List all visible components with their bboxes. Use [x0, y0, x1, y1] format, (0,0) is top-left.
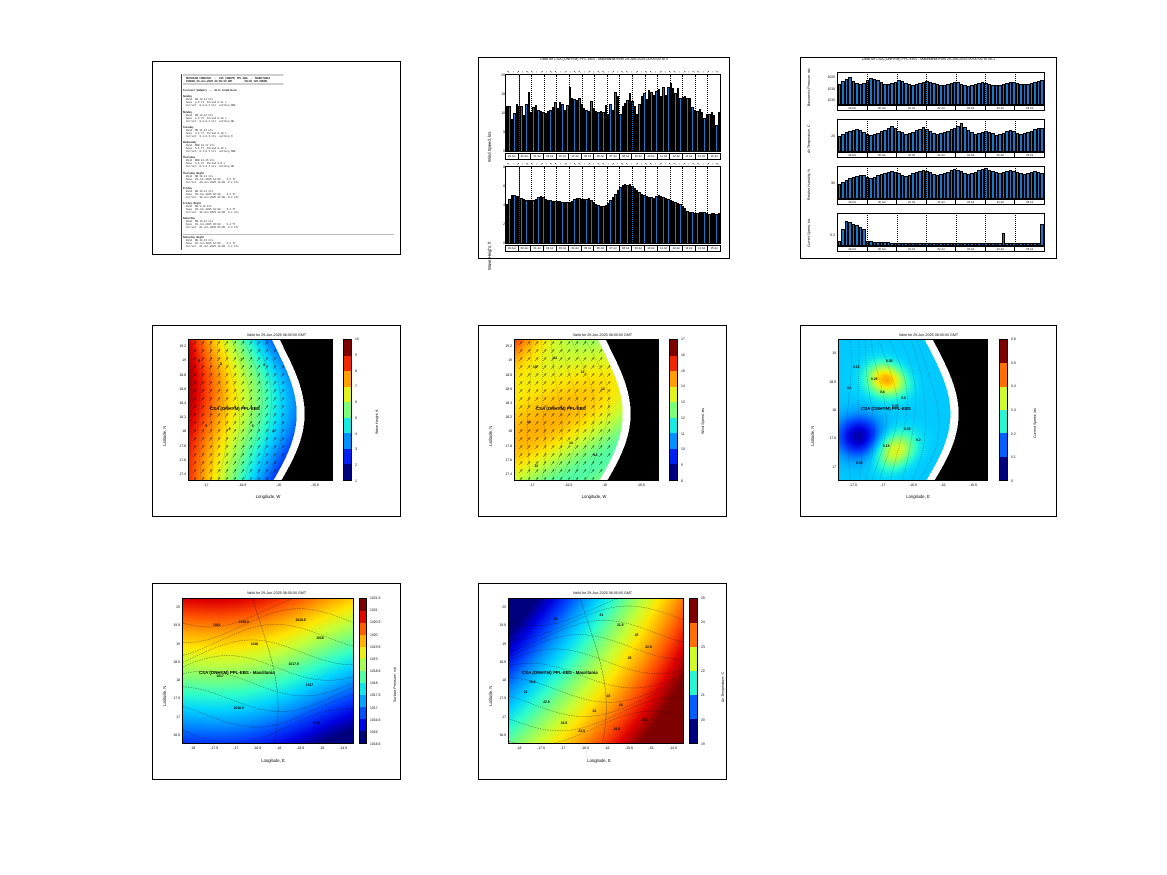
colorbar-tick: 3: [355, 447, 357, 451]
date-tick: 02 Jul: [544, 154, 557, 159]
day-gridline: [645, 75, 646, 151]
colorbar-segment: [360, 731, 366, 743]
contour-label: 1018.5: [239, 620, 249, 624]
bars-wind-speed: [506, 75, 720, 151]
day-gridline: [607, 167, 608, 243]
contour-label: 24: [593, 709, 597, 713]
contour-label: 21.5: [617, 623, 623, 627]
colorbar-segment: [670, 356, 677, 372]
day-gridline: [657, 167, 658, 243]
colorbar-tick: 1015.5: [370, 742, 380, 746]
day-gridline: [956, 166, 957, 199]
date-tick: 29 Jun: [506, 246, 519, 251]
contour-label: 0.4: [880, 390, 885, 394]
bar: [718, 112, 720, 151]
report-body: ========================================…: [183, 74, 394, 250]
y-tick: 17: [821, 465, 836, 469]
contour-label: 8: [198, 359, 200, 363]
site-label-wave-map: CSA (ONHYM) PPL-EBS: [210, 406, 260, 411]
date-tick: 01 Jul: [531, 154, 544, 159]
date-tick: 12 Jul: [670, 154, 683, 159]
day-gridline: [926, 166, 927, 199]
y-tick: 5: [491, 130, 505, 134]
colorbar-tick: 0: [1011, 479, 1013, 483]
date-tick: 02 Jul: [927, 153, 957, 157]
x-tick: -14.5: [334, 746, 352, 750]
date-tick: 29 Jun: [838, 247, 868, 251]
day-gridline: [645, 167, 646, 243]
colorbar-tick: 1019: [370, 657, 378, 661]
contour-label: 0.25: [871, 377, 877, 381]
date-tick: 05 Jul: [582, 154, 595, 159]
date-tick: 03 Jul: [956, 106, 986, 110]
colorbar-tick: 9: [355, 353, 357, 357]
y-tick-met-2: 50: [817, 181, 835, 185]
colorbar-tick: 1: [355, 479, 357, 483]
date-tick: 09 Jul: [632, 154, 645, 159]
colorbar-tick: 10: [681, 447, 685, 451]
colorbar-segment: [344, 402, 351, 418]
colorbar-label-current-speed: Current Speed, kts: [1033, 408, 1037, 438]
date-tick: 30 Jun: [519, 154, 532, 159]
contour-label: 1018.5: [296, 618, 306, 622]
contour-label: 23: [607, 694, 611, 698]
colorbar-wave-height: [343, 339, 352, 481]
colorbar-tick: 23: [701, 645, 705, 649]
y-axis-label-met-3: Current Speed, kts: [807, 219, 811, 247]
colorbar-segment: [360, 611, 366, 623]
chart-title-met: Data for CSA (ONHYM) PPL-EBS - Mauritani…: [801, 57, 1056, 61]
contour-label: 21: [524, 690, 528, 694]
date-tick: 04 Jul: [569, 154, 582, 159]
contour-label: 20.5: [529, 680, 535, 684]
date-strip-wind: 29 Jun30 Jun01 Jul02 Jul03 Jul04 Jul05 J…: [505, 153, 721, 160]
date-tick: 15 Jul: [708, 154, 720, 159]
y-tick: 18.6: [171, 387, 186, 391]
y-axis-label-met-0: Barometric Pressure, mb: [807, 69, 811, 107]
colorbar-tick: 1016: [370, 730, 378, 734]
contour-label: 22.5: [645, 645, 651, 649]
colorbar-segment: [344, 371, 351, 387]
y-tick-met-3: 0.2: [817, 233, 835, 237]
colorbar-tick: 25: [701, 596, 705, 600]
colorbar-segment: [1000, 457, 1007, 480]
y-tick: 17.5: [821, 436, 836, 440]
x-tick: -17.5: [844, 483, 862, 487]
colorbar-tick: 8: [355, 369, 357, 373]
day-gridline: [582, 167, 583, 243]
x-tick: -16.5: [904, 483, 922, 487]
y-tick: 18.5: [491, 660, 506, 664]
site-label-current-map: CSA (ONHYM) PPL-EBS: [861, 406, 911, 411]
y-tick: 17: [491, 715, 506, 719]
colorbar-segment: [360, 659, 366, 671]
colorbar-tick: 21: [701, 693, 705, 697]
contour-label: 0.2: [916, 438, 921, 442]
colorbar-tick: 11: [681, 432, 685, 436]
contour-label: 1018: [316, 636, 323, 640]
colorbar-segment: [360, 635, 366, 647]
x-tick: -15.5: [632, 483, 650, 487]
contour-label: 7: [240, 358, 242, 362]
contour-label: 22.5: [561, 721, 567, 725]
day-gridline: [682, 167, 683, 243]
colorbar-segment: [670, 402, 677, 418]
day-gridline: [867, 72, 868, 105]
bar: [1040, 173, 1043, 198]
y-tick: 2: [491, 222, 505, 226]
colorbar-segment: [1000, 410, 1007, 433]
date-tick: 14 Jul: [696, 246, 709, 251]
day-gridline: [607, 75, 608, 151]
colorbar-current-speed: [999, 339, 1008, 481]
date-tick: 04 Jul: [986, 106, 1016, 110]
day-gridline: [985, 213, 986, 246]
y-tick: 18.4: [497, 401, 512, 405]
y-axis-label-wave-map: Latitude, N: [162, 426, 167, 446]
day-gridline: [926, 213, 927, 246]
y-tick: 18: [171, 429, 186, 433]
y-tick: 8: [491, 165, 505, 169]
x-tick: -15.5: [964, 483, 982, 487]
day-gridline: [594, 75, 595, 151]
y-tick: 18.5: [165, 660, 180, 664]
bar: [1040, 80, 1043, 104]
x-tick: -17: [227, 746, 245, 750]
x-tick: -16.5: [248, 746, 266, 750]
contour-label: 0.3: [901, 396, 906, 400]
y-tick-met-0: 1015: [817, 87, 835, 91]
colorbar-tick: 5: [355, 416, 357, 420]
x-axis-label-wave-map: Longitude, W: [183, 494, 353, 499]
y-tick: 19.5: [165, 623, 180, 627]
date-tick: 13 Jul: [683, 154, 696, 159]
date-strip-met-0: 29 Jun30 Jun01 Jul02 Jul03 Jul04 Jul05 J…: [837, 105, 1045, 111]
x-tick: -15.5: [306, 483, 324, 487]
y-tick-met-0: 1020: [817, 75, 835, 79]
y-tick: 10: [491, 111, 505, 115]
colorbar-tick: 24: [701, 620, 705, 624]
contour-label: 5: [205, 424, 207, 428]
day-gridline: [531, 75, 532, 151]
day-gridline: [619, 75, 620, 151]
day-gridline: [985, 119, 986, 152]
y-tick: 17.4: [171, 472, 186, 476]
colorbar-segment: [360, 707, 366, 719]
y-tick: 18.4: [171, 401, 186, 405]
date-tick: 04 Jul: [986, 247, 1016, 251]
day-gridline: [670, 167, 671, 243]
colorbar-tick: 1016.5: [370, 718, 380, 722]
date-tick: 30 Jun: [519, 246, 532, 251]
colorbar-tick: 0.1: [1011, 455, 1016, 459]
day-gridline: [926, 119, 927, 152]
colorbar-segment: [360, 683, 366, 695]
x-tick: -17.5: [532, 746, 550, 750]
contour-label: 14: [569, 441, 573, 445]
contour-label: 22.5: [543, 700, 549, 704]
x-tick: -16: [598, 746, 616, 750]
colorbar-tick: 1019.5: [370, 645, 380, 649]
x-tick: -17: [523, 483, 541, 487]
y-tick: 20: [165, 605, 180, 609]
contour-label: 13: [601, 387, 605, 391]
date-strip-met-1: 29 Jun30 Jun01 Jul02 Jul03 Jul04 Jul05 J…: [837, 152, 1045, 158]
bar: [1040, 224, 1043, 245]
day-gridline: [897, 119, 898, 152]
day-gridline: [867, 119, 868, 152]
contour-label: 13: [534, 464, 538, 468]
day-gridline: [956, 213, 957, 246]
y-tick: 17.8: [497, 444, 512, 448]
day-gridline: [867, 166, 868, 199]
x-tick: -17: [554, 746, 572, 750]
colorbar-tick: 20: [701, 718, 705, 722]
report-left-rule: [181, 74, 182, 250]
x-tick: -17.5: [205, 746, 223, 750]
bars-met-2: [838, 167, 1044, 198]
date-tick: 13 Jul: [683, 246, 696, 251]
colorbar-segment: [360, 671, 366, 683]
colorbar-label-pressure: Surface Pressure, mb: [393, 667, 397, 702]
contour-label: 22: [635, 633, 639, 637]
x-tick: -16.5: [233, 483, 251, 487]
date-tick: 29 Jun: [838, 200, 868, 204]
y-tick: 18.2: [497, 415, 512, 419]
colorbar-segment: [690, 695, 697, 719]
panel-wind-speed-map: Valid for 29-Jun-2025 06:00:00 GMT Latit…: [478, 325, 727, 517]
y-tick: 16.5: [165, 733, 180, 737]
colorbar-segment: [670, 449, 677, 465]
colorbar-tick: 1018.5: [370, 669, 380, 673]
y-tick: 17.6: [171, 458, 186, 462]
panel-surface-pressure-map: Valid for 29-Jun-2025 06:00:00 GMT Latit…: [152, 583, 401, 780]
y-tick: 18.8: [171, 373, 186, 377]
map-title-current-speed: Valid for 29-Jun-2025 06:00:00 GMT: [801, 333, 1056, 337]
y-tick: 0: [491, 241, 505, 245]
y-axis-label-wind-speed: Wind Speed, kts: [487, 132, 492, 163]
day-gridline: [897, 166, 898, 199]
day-gridline: [582, 75, 583, 151]
y-tick: 19.2: [497, 344, 512, 348]
colorbar-tick: 16: [681, 353, 685, 357]
contour-label: 23.5: [642, 718, 648, 722]
y-tick: 17.5: [491, 696, 506, 700]
panel-current-speed-map: Valid for 29-Jun-2025 06:00:00 GMT Latit…: [800, 325, 1057, 517]
colorbar-segment: [690, 719, 697, 743]
day-gridline: [632, 75, 633, 151]
contour-label: 14: [527, 420, 531, 424]
contour-label: 14: [594, 453, 598, 457]
date-tick: 06 Jul: [594, 154, 607, 159]
day-gridline: [695, 75, 696, 151]
colorbar-tick: 1020: [370, 633, 378, 637]
y-tick: 17: [165, 715, 180, 719]
y-tick: 20: [491, 605, 506, 609]
bars-met-0: [838, 73, 1044, 104]
x-tick: -17: [874, 483, 892, 487]
day-gridline: [867, 213, 868, 246]
contour-label: 21: [600, 613, 604, 617]
contour-label: 0.15: [853, 365, 859, 369]
day-gridline: [695, 167, 696, 243]
date-tick: 14 Jul: [696, 154, 709, 159]
site-label-pressure-map: CSA (ONHYM) PPL-EBS - Mauritania: [199, 670, 275, 675]
colorbar-tick: 0.4: [1011, 384, 1016, 388]
day-gridline: [670, 75, 671, 151]
y-tick: 17.4: [497, 472, 512, 476]
panel-wind-wave-timeseries: Data for CSA (ONHYM) PPL-EBS - Mauritani…: [478, 57, 730, 259]
colorbar-segment: [1000, 363, 1007, 386]
day-gridline: [926, 72, 927, 105]
colorbar-tick: 19: [701, 742, 705, 746]
colorbar-segment: [344, 464, 351, 480]
x-tick: -14.5: [664, 746, 682, 750]
day-gridline: [1015, 72, 1016, 105]
day-gridline: [682, 75, 683, 151]
date-tick: 06 Jul: [594, 246, 607, 251]
y-tick: 18.8: [497, 373, 512, 377]
y-tick: 4: [491, 203, 505, 207]
y-tick: 18: [491, 678, 506, 682]
panel-air-temperature-map: Valid for 29-Jun-2025 06:00:00 GMT Latit…: [478, 583, 727, 780]
colorbar-segment: [670, 371, 677, 387]
site-label-temp-map: CSA (ONHYM) PPL-EBS - Mauritania: [522, 670, 598, 675]
y-tick: 19: [497, 358, 512, 362]
day-gridline: [519, 75, 520, 151]
date-tick: 03 Jul: [956, 153, 986, 157]
colorbar-tick: 6: [355, 400, 357, 404]
day-gridline: [569, 75, 570, 151]
colorbar-segment: [670, 433, 677, 449]
contour-label: 4: [272, 429, 274, 433]
panel-wave-height-map: Valid for 29-Jun-2025 06:00:00 GMT Latit…: [152, 325, 401, 517]
contour-label: 24: [619, 703, 623, 707]
contour-label: 0.25: [904, 427, 910, 431]
colorbar-segment: [670, 418, 677, 434]
y-tick-met-1: 20: [817, 134, 835, 138]
map-title-pressure: Valid for 29-Jun-2025 06:00:00 GMT: [153, 591, 400, 595]
date-tick: 02 Jul: [927, 247, 957, 251]
colorbar-segment: [360, 599, 366, 611]
y-tick: 18.2: [171, 415, 186, 419]
contour-label: 1017: [216, 674, 223, 678]
contour-label: 8: [220, 362, 222, 366]
contour-label: 20: [554, 617, 558, 621]
y-tick: 19: [171, 358, 186, 362]
contour-label: 14: [553, 356, 557, 360]
x-tick: -15: [642, 746, 660, 750]
colorbar-segment: [360, 695, 366, 707]
date-tick: 30 Jun: [868, 247, 898, 251]
date-tick: 04 Jul: [986, 153, 1016, 157]
colorbar-segment: [1000, 433, 1007, 456]
x-tick: -15.5: [291, 746, 309, 750]
y-tick-met-0: 1010: [817, 98, 835, 102]
y-tick: 16.5: [491, 733, 506, 737]
y-tick: 19: [491, 642, 506, 646]
contour-label: 1017.5: [289, 662, 299, 666]
colorbar-tick: 12: [681, 416, 685, 420]
colorbar-tick: 1021: [370, 608, 378, 612]
contour-label: 5: [252, 424, 254, 428]
date-tick: 01 Jul: [897, 106, 927, 110]
x-tick: -18: [184, 746, 202, 750]
contour-label: 12: [581, 370, 585, 374]
y-tick: 6: [491, 184, 505, 188]
x-axis-label-wind-map: Longitude, W: [509, 494, 679, 499]
colorbar-segment: [344, 449, 351, 465]
x-tick: -16.5: [559, 483, 577, 487]
y-tick: 18.5: [821, 380, 836, 384]
map-title-air-temperature: Valid for 29-Jun-2025 06:00:00 GMT: [479, 591, 726, 595]
y-axis-label-wave-height: Wave Height, ft: [487, 242, 492, 270]
date-tick: 29 Jun: [838, 106, 868, 110]
report-spacer: [183, 229, 394, 232]
contour-label: 0.15: [883, 444, 889, 448]
report-divider: [183, 234, 394, 235]
x-tick: -16: [596, 483, 614, 487]
date-tick: 07 Jul: [607, 246, 620, 251]
date-tick: 09 Jul: [632, 246, 645, 251]
contour-label: 1019: [213, 623, 220, 627]
y-tick: 19.5: [491, 623, 506, 627]
date-tick: 11 Jul: [658, 154, 671, 159]
date-tick: 11 Jul: [658, 246, 671, 251]
date-tick: 30 Jun: [868, 200, 898, 204]
date-strip-wave: 29 Jun30 Jun01 Jul02 Jul03 Jul04 Jul05 J…: [505, 245, 721, 252]
report-spacer: [183, 248, 394, 250]
date-tick: 01 Jul: [897, 200, 927, 204]
colorbar-tick: 1021.5: [370, 596, 380, 600]
x-axis-label-current-map: Longitude, E: [833, 494, 1003, 499]
date-tick: 01 Jul: [531, 246, 544, 251]
day-gridline: [594, 167, 595, 243]
colorbar-tick: 4: [355, 432, 357, 436]
day-gridline: [956, 72, 957, 105]
x-tick: -15: [313, 746, 331, 750]
y-axis-label-current-map: Latitude, N: [810, 426, 815, 446]
contour-label: 6: [263, 363, 265, 367]
date-strip-met-3: 29 Jun30 Jun01 Jul02 Jul03 Jul04 Jul05 J…: [837, 246, 1045, 252]
x-tick: -16: [934, 483, 952, 487]
colorbar-tick: 8: [681, 479, 683, 483]
date-tick: 01 Jul: [897, 247, 927, 251]
date-tick: 08 Jul: [620, 246, 633, 251]
day-gridline: [707, 167, 708, 243]
day-gridline: [531, 167, 532, 243]
colorbar-tick: 10: [355, 337, 359, 341]
y-tick: 18: [497, 429, 512, 433]
date-tick: 10 Jul: [645, 246, 658, 251]
day-gridline: [519, 167, 520, 243]
colorbar-segment: [344, 418, 351, 434]
day-gridline: [707, 75, 708, 151]
map-title-wave-height: Valid for 29-Jun-2025 06:00:00 GMT: [153, 333, 400, 337]
day-gridline: [544, 167, 545, 243]
contour-label: 0.35: [892, 404, 898, 408]
colorbar-label-wave-height: Wave Height, ft: [375, 410, 379, 434]
y-tick: 20: [491, 73, 505, 77]
colorbar-wind-speed: [669, 339, 678, 481]
colorbar-segment: [1000, 387, 1007, 410]
date-tick: 29 Jun: [838, 153, 868, 157]
y-tick: 19.2: [171, 344, 186, 348]
colorbar-label-wind-speed: Wind Speed, kts: [701, 408, 705, 434]
colorbar-tick: 14: [681, 384, 685, 388]
day-gridline: [544, 75, 545, 151]
date-tick: 05 Jul: [1015, 106, 1044, 110]
